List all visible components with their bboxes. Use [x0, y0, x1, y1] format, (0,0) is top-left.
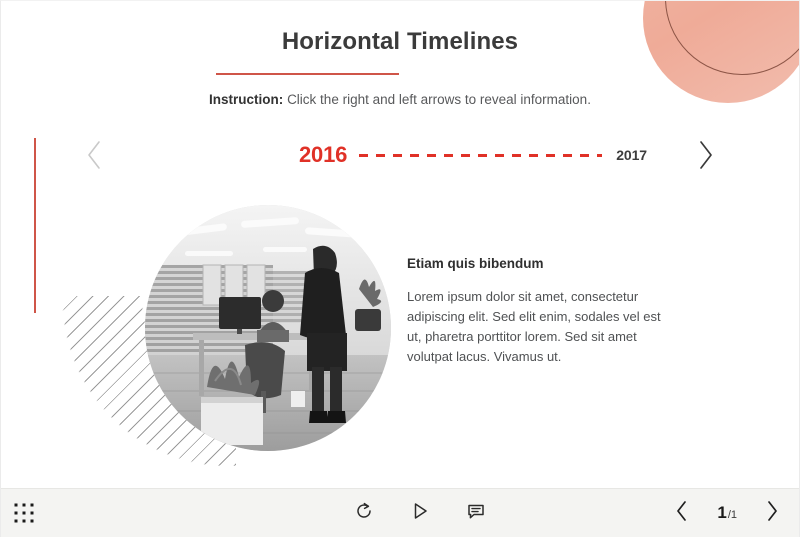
- timeline-year-active[interactable]: 2016: [299, 142, 347, 168]
- play-button[interactable]: [407, 500, 433, 526]
- office-photo-illustration: [145, 205, 391, 451]
- timeline-dashed-connector: [359, 154, 602, 157]
- instruction-body: Click the right and left arrows to revea…: [287, 92, 591, 107]
- content-text-block: Etiam quis bibendum Lorem ipsum dolor si…: [407, 256, 669, 367]
- timeline-next-button[interactable]: [691, 133, 721, 177]
- slide-stage: Horizontal Timelines Instruction: Click …: [0, 0, 800, 537]
- toolbar-right-group: 1 / 1: [669, 489, 785, 537]
- title-underline: [216, 73, 399, 75]
- chevron-right-icon: [698, 140, 714, 170]
- timeline-navigation: 2016 2017: [79, 131, 721, 179]
- content-heading: Etiam quis bibendum: [407, 256, 669, 271]
- timeline-years: 2016 2017: [299, 131, 691, 179]
- content-body: Lorem ipsum dolor sit amet, consectetur …: [407, 287, 669, 367]
- current-page: 1: [717, 503, 726, 523]
- chevron-left-icon: [675, 500, 689, 527]
- notes-icon: [466, 501, 486, 526]
- media-block: [61, 191, 401, 471]
- player-toolbar: 1 / 1: [1, 488, 799, 537]
- play-icon: [410, 501, 430, 526]
- instruction-label: Instruction:: [209, 92, 283, 107]
- replay-button[interactable]: [351, 500, 377, 526]
- replay-icon: [354, 501, 374, 526]
- chevron-right-icon: [765, 500, 779, 527]
- circular-photo: [145, 205, 391, 451]
- next-slide-button[interactable]: [759, 500, 785, 526]
- page-indicator: 1 / 1: [717, 503, 737, 523]
- timeline-year-next[interactable]: 2017: [616, 147, 647, 163]
- left-accent-rule: [34, 138, 36, 313]
- timeline-prev-button[interactable]: [79, 133, 109, 177]
- previous-slide-button[interactable]: [669, 500, 695, 526]
- total-pages: 1: [731, 509, 737, 521]
- chevron-left-icon: [86, 140, 102, 170]
- notes-button[interactable]: [463, 500, 489, 526]
- page-title: Horizontal Timelines: [1, 28, 799, 56]
- instruction-text: Instruction: Click the right and left ar…: [1, 92, 799, 107]
